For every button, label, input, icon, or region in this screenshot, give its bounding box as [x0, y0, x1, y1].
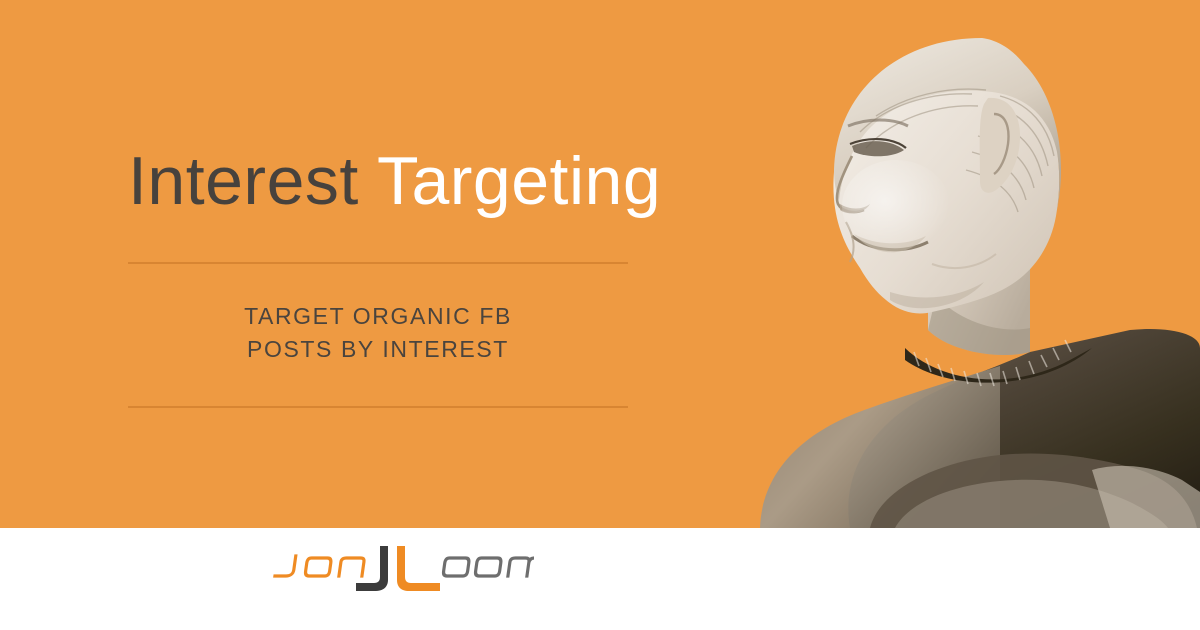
- portrait-photo: [700, 0, 1200, 528]
- footer-band: [0, 528, 1200, 630]
- page-title: Interest Targeting: [128, 138, 668, 224]
- social-share-banner: Interest Targeting TARGET ORGANIC FB POS…: [0, 0, 1200, 630]
- hero-band: Interest Targeting TARGET ORGANIC FB POS…: [0, 0, 1200, 528]
- title-word-primary: Interest: [128, 143, 359, 219]
- subtitle-line-1: TARGET ORGANIC FB: [128, 300, 628, 333]
- title-word-secondary: [359, 143, 377, 219]
- subtitle: TARGET ORGANIC FB POSTS BY INTEREST: [128, 264, 628, 406]
- monogram-l: [397, 546, 440, 591]
- monogram-j: [356, 546, 388, 591]
- subtitle-line-2: POSTS BY INTEREST: [128, 333, 628, 366]
- title-block: Interest Targeting TARGET ORGANIC FB POS…: [128, 138, 668, 408]
- brand-logo[interactable]: [264, 540, 534, 598]
- divider-top: [128, 262, 628, 264]
- divider-bottom: [128, 406, 628, 408]
- title-word-accent: Targeting: [377, 143, 661, 219]
